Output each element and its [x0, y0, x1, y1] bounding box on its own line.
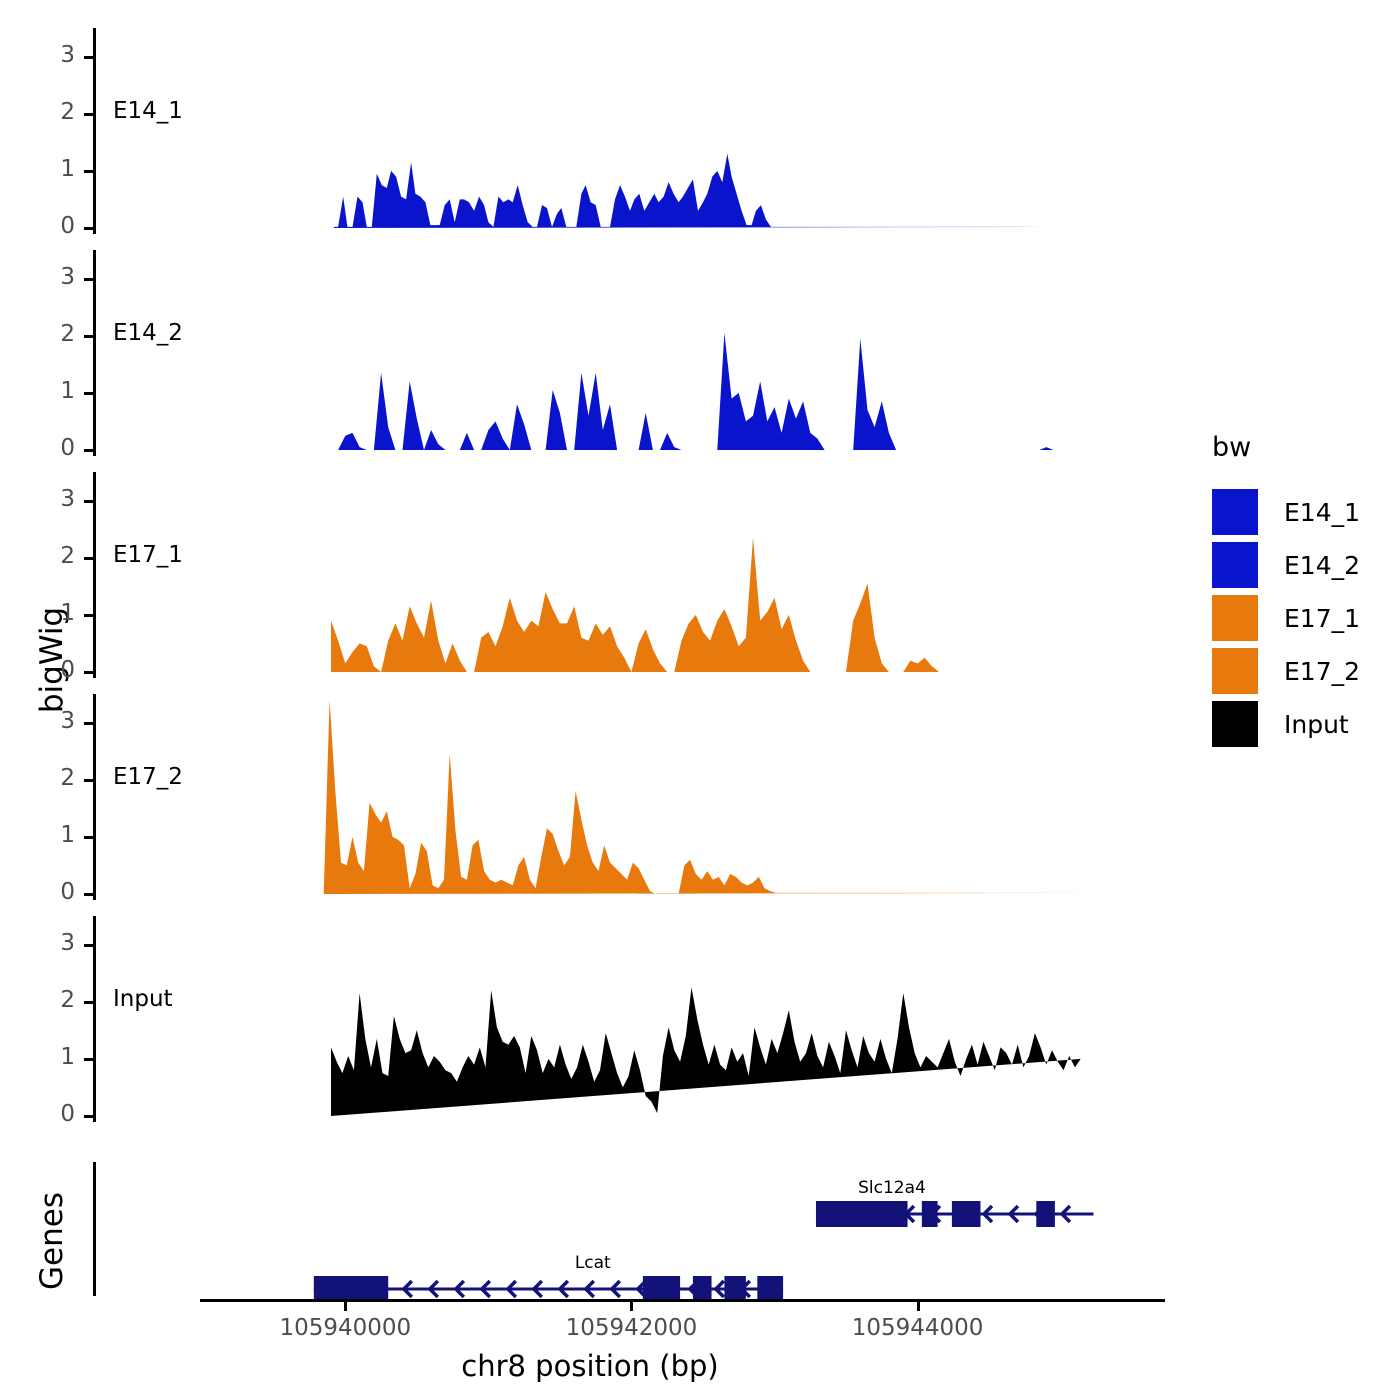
x-tick-label-105942000: 105942000: [521, 1315, 741, 1341]
y-tick-e17_2-3: [84, 722, 93, 725]
figure-root: bigWigGenes0123E14_10123E14_20123E17_101…: [0, 0, 1400, 1400]
legend-label-e17_2: E17_2: [1284, 657, 1360, 686]
y-axis-line-e17_2: [93, 694, 96, 900]
track-label-e14_2: E14_2: [113, 320, 183, 346]
legend-item-input[interactable]: Input: [1212, 701, 1360, 747]
gene-track: [238, 1162, 1165, 1306]
y-tick-input-2: [84, 1001, 93, 1004]
legend-swatch-e14_1: [1212, 489, 1258, 535]
track-label-e14_1: E14_1: [113, 98, 183, 124]
track-area-e17_1: [238, 472, 1135, 680]
y-tick-label-e14_2-0: 0: [27, 435, 75, 461]
track-area-e17_2: [238, 694, 1135, 902]
y-tick-label-e17_1-1: 1: [27, 600, 75, 626]
x-tick-105940000: [344, 1302, 347, 1311]
x-tick-label-105944000: 105944000: [808, 1315, 1028, 1341]
y-tick-e14_2-1: [84, 392, 93, 395]
legend-item-e14_2[interactable]: E14_2: [1212, 542, 1360, 588]
legend-item-e17_2[interactable]: E17_2: [1212, 648, 1360, 694]
y-tick-label-e17_2-1: 1: [27, 822, 75, 848]
y-tick-input-1: [84, 1058, 93, 1061]
legend-label-e14_2: E14_2: [1284, 551, 1360, 580]
y-tick-label-e14_1-2: 2: [27, 99, 75, 125]
y-tick-label-e17_2-2: 2: [27, 765, 75, 791]
track-area-e14_2: [238, 250, 1135, 458]
y-tick-e17_1-1: [84, 614, 93, 617]
y-tick-e14_2-3: [84, 278, 93, 281]
legend-swatch-input: [1212, 701, 1258, 747]
y-tick-input-0: [84, 1115, 93, 1118]
legend-swatch-e17_1: [1212, 595, 1258, 641]
y-tick-label-e17_1-3: 3: [27, 486, 75, 512]
y-tick-label-e14_1-1: 1: [27, 156, 75, 182]
y-tick-label-e14_1-0: 0: [27, 213, 75, 239]
y-axis-group-label-genes: Genes: [34, 1192, 70, 1290]
y-tick-e14_1-0: [84, 227, 93, 230]
track-label-e17_1: E17_1: [113, 542, 183, 568]
legend-item-e17_1[interactable]: E17_1: [1212, 595, 1360, 641]
y-tick-e14_1-2: [84, 113, 93, 116]
y-tick-label-input-0: 0: [27, 1101, 75, 1127]
x-tick-105944000: [917, 1302, 920, 1311]
y-tick-e17_1-3: [84, 500, 93, 503]
y-tick-label-e14_2-3: 3: [27, 264, 75, 290]
y-tick-label-e17_2-3: 3: [27, 708, 75, 734]
legend-swatch-e17_2: [1212, 648, 1258, 694]
y-axis-line-input: [93, 916, 96, 1122]
legend-title: bw: [1212, 432, 1360, 463]
y-tick-label-e17_1-2: 2: [27, 543, 75, 569]
gene-label-slc12a4: Slc12a4: [858, 1178, 926, 1198]
legend-label-input: Input: [1284, 710, 1349, 739]
y-tick-label-e14_2-2: 2: [27, 321, 75, 347]
track-area-e14_1: [238, 28, 1135, 236]
gene-label-lcat: Lcat: [575, 1253, 611, 1273]
track-area-input: [238, 916, 1135, 1124]
y-tick-label-input-3: 3: [27, 930, 75, 956]
y-tick-input-3: [84, 944, 93, 947]
y-tick-label-input-2: 2: [27, 987, 75, 1013]
y-tick-label-e14_1-3: 3: [27, 42, 75, 68]
y-axis-line-e14_1: [93, 28, 96, 234]
x-axis-title: chr8 position (bp): [380, 1349, 800, 1383]
y-tick-e14_2-2: [84, 335, 93, 338]
y-tick-e14_1-1: [84, 170, 93, 173]
legend-label-e14_1: E14_1: [1284, 498, 1360, 527]
legend-item-e14_1[interactable]: E14_1: [1212, 489, 1360, 535]
legend-label-e17_1: E17_1: [1284, 604, 1360, 633]
y-tick-e14_1-3: [84, 56, 93, 59]
y-axis-line-genes: [93, 1162, 96, 1296]
y-axis-line-e17_1: [93, 472, 96, 678]
y-tick-label-e14_2-1: 1: [27, 378, 75, 404]
y-axis-line-e14_2: [93, 250, 96, 456]
legend: bwE14_1E14_2E17_1E17_2Input: [1212, 432, 1360, 754]
x-tick-105942000: [630, 1302, 633, 1311]
y-tick-label-e17_2-0: 0: [27, 879, 75, 905]
legend-swatch-e14_2: [1212, 542, 1258, 588]
y-tick-label-e17_1-0: 0: [27, 657, 75, 683]
y-tick-e17_1-2: [84, 557, 93, 560]
track-label-e17_2: E17_2: [113, 764, 183, 790]
y-tick-e17_2-2: [84, 779, 93, 782]
y-tick-e17_2-0: [84, 893, 93, 896]
track-label-input: Input: [113, 986, 173, 1012]
y-tick-e17_2-1: [84, 836, 93, 839]
y-tick-e17_1-0: [84, 671, 93, 674]
x-tick-label-105940000: 105940000: [235, 1315, 455, 1341]
y-tick-e14_2-0: [84, 449, 93, 452]
y-tick-label-input-1: 1: [27, 1044, 75, 1070]
